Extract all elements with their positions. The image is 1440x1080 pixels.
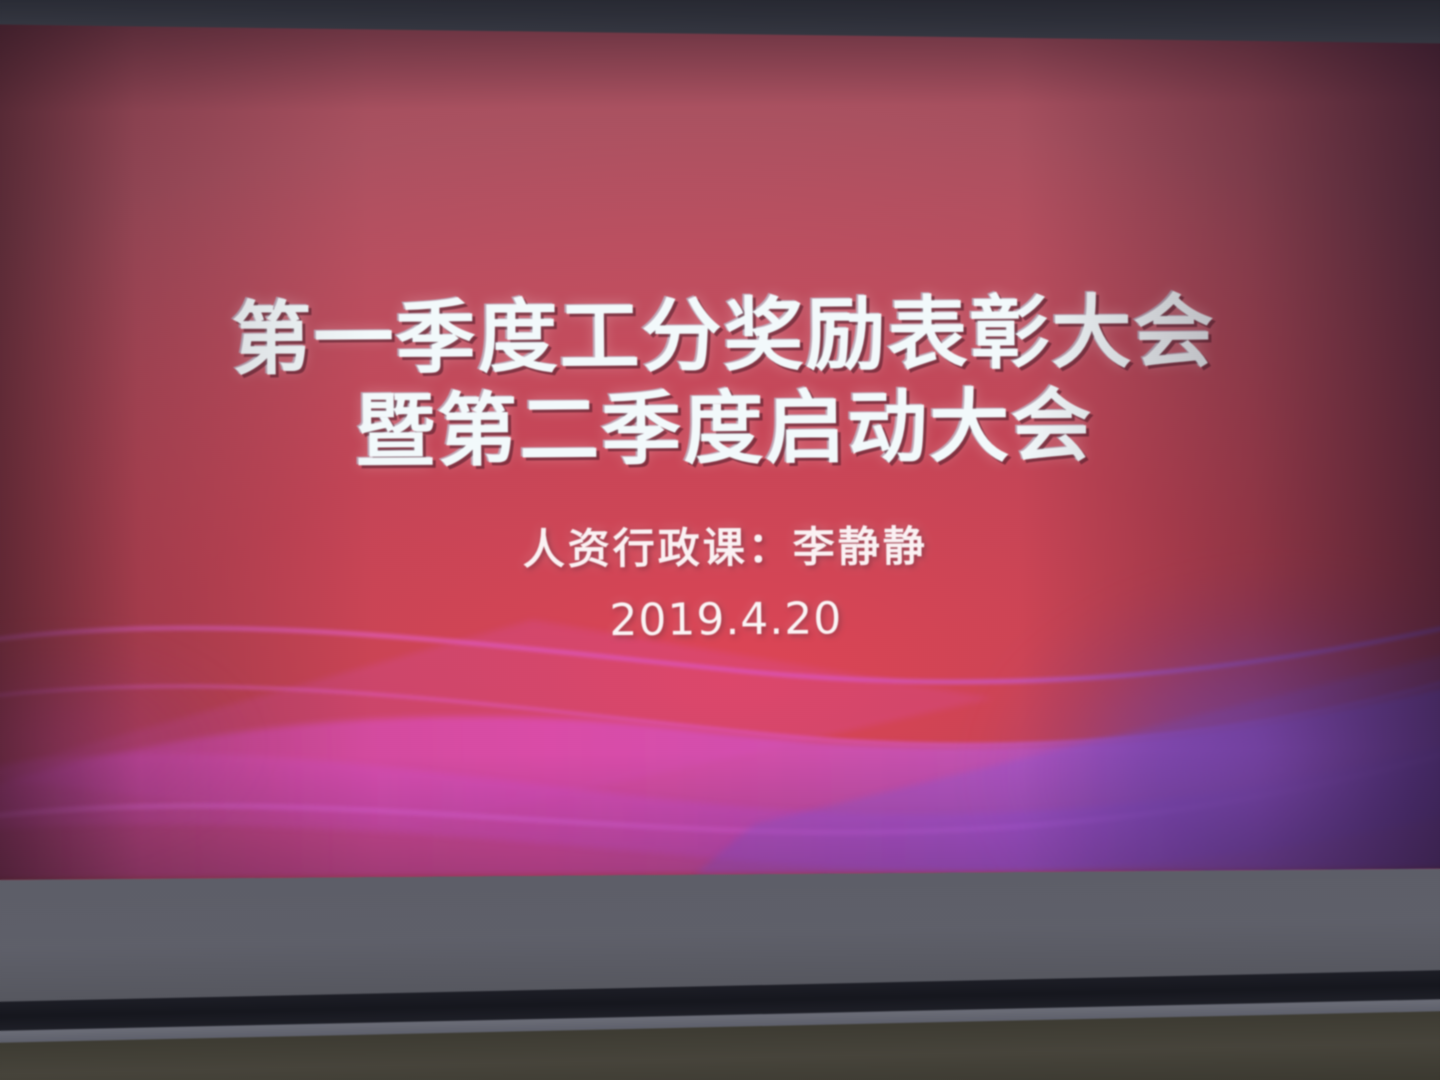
projected-slide-photo: 第一季度工分奖励表彰大会 暨第二季度启动大会 人资行政课：李静静 2019.4.…: [0, 0, 1440, 1080]
slide-title: 第一季度工分奖励表彰大会 暨第二季度启动大会: [0, 284, 1440, 481]
slide-title-line-1: 第一季度工分奖励表彰大会: [231, 285, 1216, 386]
slide-title-line-2: 暨第二季度启动大会: [0, 377, 1440, 481]
slide-presenter: 人资行政课：李静静: [0, 508, 1440, 581]
presentation-slide: 第一季度工分奖励表彰大会 暨第二季度启动大会 人资行政课：李静静 2019.4.…: [0, 0, 1440, 880]
